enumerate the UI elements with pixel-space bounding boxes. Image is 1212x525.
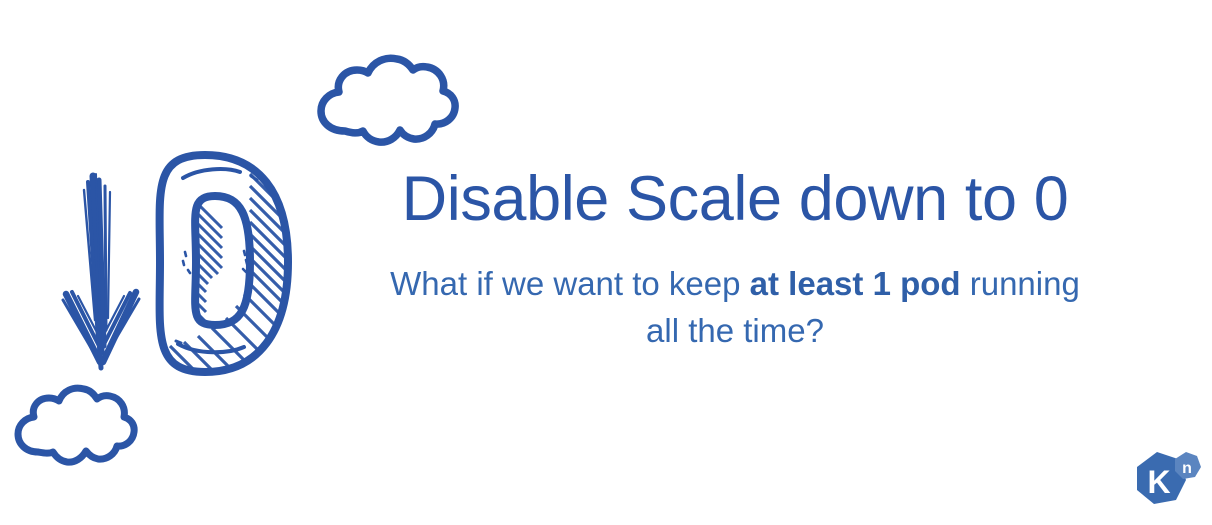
slide-canvas: Disable Scale down to 0 What if we want … xyxy=(0,0,1212,525)
down-arrow-icon xyxy=(63,174,139,368)
logo-badge-letter: n xyxy=(1182,460,1192,477)
subtitle-emphasis: at least 1 pod xyxy=(750,265,961,302)
logo-primary-letter: K xyxy=(1147,464,1170,500)
zero-digit-icon xyxy=(158,150,300,400)
page-subtitle: What if we want to keep at least 1 pod r… xyxy=(330,261,1140,355)
text-block: Disable Scale down to 0 What if we want … xyxy=(330,168,1140,355)
page-title: Disable Scale down to 0 xyxy=(330,168,1140,231)
subtitle-text-before: What if we want to keep xyxy=(390,265,750,302)
cloud-top-icon xyxy=(321,58,455,142)
knative-logo: K n xyxy=(1126,446,1206,520)
cloud-bottom-left-icon xyxy=(18,388,134,462)
